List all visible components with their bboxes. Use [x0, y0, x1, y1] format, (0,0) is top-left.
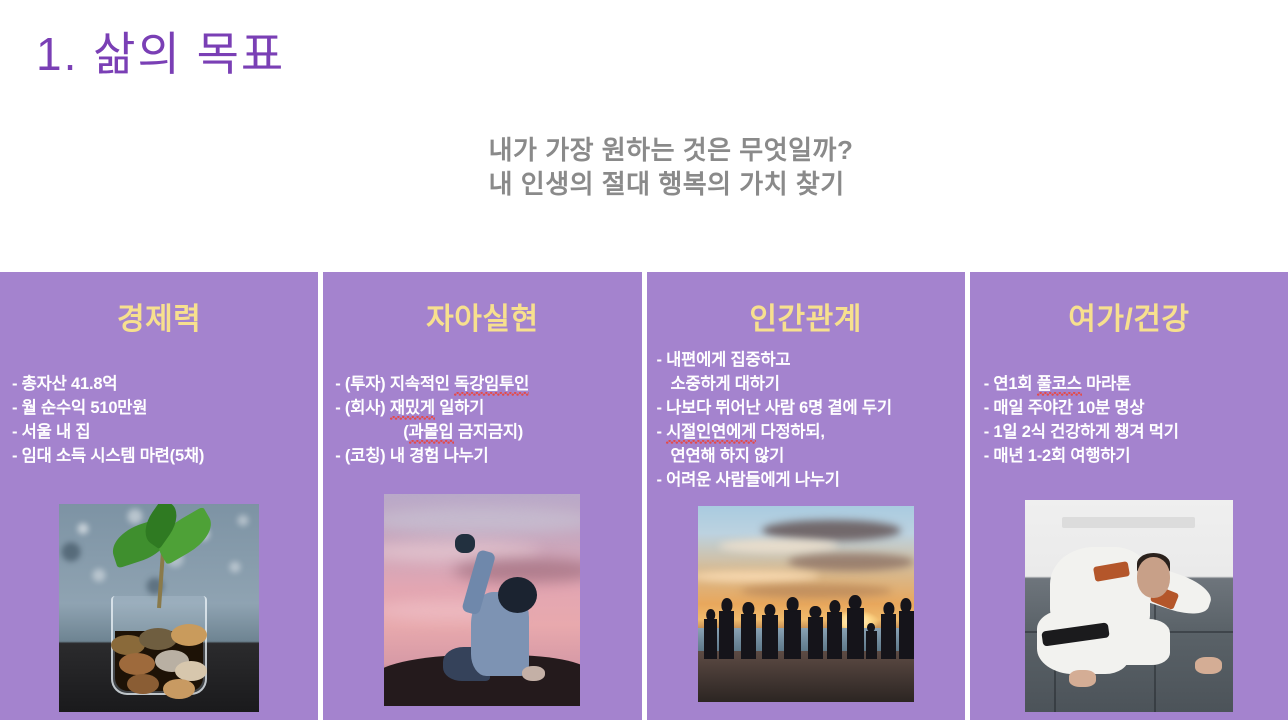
column-photo-mountain-victory	[384, 494, 580, 706]
list-item-text: - (회사)	[335, 399, 390, 417]
list-item: - 연1회 풀코스 마라톤	[984, 372, 1282, 396]
column-relationships[interactable]: 인간관계 - 내편에게 집중하고 소중하게 대하기 - 나보다 뛰어난 사람 6…	[647, 272, 965, 720]
person-silhouette	[881, 614, 896, 659]
list-item: - (투자) 지속적인 독강임투인	[335, 372, 635, 396]
list-item-text: -	[657, 423, 667, 441]
person-head	[849, 595, 862, 610]
list-item: - 월 순수익 510만원	[12, 396, 312, 420]
list-item: 연연해 하지 않기	[657, 444, 959, 468]
list-item: (과몰입 금지금지)	[335, 420, 635, 444]
person-head	[743, 602, 754, 616]
spellcheck-error-text: 재밌게	[390, 399, 435, 420]
person-silhouette	[741, 614, 756, 659]
person-fist	[455, 534, 475, 553]
list-item: - (코칭) 내 경험 나누기	[335, 444, 635, 468]
column-heading: 자아실현	[323, 294, 641, 338]
list-item-text: 마라톤	[1082, 375, 1131, 393]
list-item-text: 금지금지)	[454, 423, 524, 441]
person-head	[829, 600, 840, 614]
list-item: - 나보다 뛰어난 사람 6명 곁에 두기	[657, 396, 959, 420]
list-item: 소중하게 대하기	[657, 372, 959, 396]
person-head	[786, 597, 799, 612]
list-item: - 임대 소득 시스템 마련(5채)	[12, 444, 312, 468]
list-item-text: - (투자) 지속적인	[335, 375, 454, 393]
slide-subtitle: 내가 가장 원하는 것은 무엇일까? 내 인생의 절대 행복의 가치 찾기	[0, 133, 1288, 201]
list-item-text: - 연1회	[984, 375, 1037, 393]
column-photo-coins-plant	[59, 504, 259, 712]
subtitle-inner: 내가 가장 원하는 것은 무엇일까? 내 인생의 절대 행복의 가치 찾기	[489, 133, 854, 201]
column-bullet-list: - (투자) 지속적인 독강임투인 - (회사) 재밌게 일하기 (과몰입 금지…	[335, 372, 635, 468]
list-item: - 서울 내 집	[12, 420, 312, 444]
athlete-hand	[1195, 657, 1222, 674]
person-head	[721, 598, 732, 612]
person-head	[810, 606, 821, 619]
list-item: - 매일 주야간 10분 명상	[984, 396, 1282, 420]
coin-cluster	[59, 529, 259, 712]
column-self-realization[interactable]: 자아실현 - (투자) 지속적인 독강임투인 - (회사) 재밌게 일하기 (과…	[323, 272, 641, 720]
presentation-slide: 1. 삶의 목표 내가 가장 원하는 것은 무엇일까? 내 인생의 절대 행복의…	[0, 0, 1288, 720]
cloud-shape	[698, 571, 819, 583]
person-silhouette	[847, 608, 864, 659]
column-heading: 여가/건강	[970, 294, 1288, 338]
spellcheck-error-text: 과몰입	[409, 423, 454, 444]
coin-icon	[127, 674, 159, 694]
coin-icon	[119, 653, 155, 675]
athlete-hand	[1069, 670, 1096, 687]
person-head	[867, 623, 875, 631]
cloud-shape	[719, 539, 838, 553]
person-silhouette	[704, 619, 717, 659]
list-item: - 총자산 41.8억	[12, 372, 312, 396]
column-photo-grappling	[1025, 500, 1233, 712]
spellcheck-error-text: 독강임투인	[454, 375, 529, 396]
cloud-shape	[384, 507, 580, 535]
column-leisure-health[interactable]: 여가/건강 - 연1회 풀코스 마라톤 - 매일 주야간 10분 명상 - 1일…	[970, 272, 1288, 720]
spellcheck-error-text: 시절인연에게	[666, 423, 756, 444]
child-silhouette	[866, 631, 877, 659]
column-economic-power[interactable]: 경제력 - 총자산 41.8억 - 월 순수익 510만원 - 서울 내 집 -…	[0, 272, 318, 720]
people-silhouette-group	[698, 588, 914, 659]
coin-icon	[163, 679, 195, 699]
page-title: 1. 삶의 목표	[36, 18, 285, 84]
column-bullet-list: - 내편에게 집중하고 소중하게 대하기 - 나보다 뛰어난 사람 6명 곁에 …	[657, 348, 959, 492]
person-head	[900, 598, 911, 612]
column-photo-beach-sunset-group	[698, 506, 914, 702]
list-item: - 1일 2식 건강하게 챙겨 먹기	[984, 420, 1282, 444]
person-supporting-hand	[522, 666, 546, 681]
list-item: - 매년 1-2회 여행하기	[984, 444, 1282, 468]
list-item-text: (	[403, 423, 408, 441]
goal-columns: 경제력 - 총자산 41.8억 - 월 순수익 510만원 - 서울 내 집 -…	[0, 272, 1288, 720]
athlete-a-head	[1137, 557, 1170, 597]
cloud-shape	[762, 520, 900, 542]
person-silhouette	[719, 611, 734, 659]
person-head	[883, 602, 894, 616]
column-bullet-list: - 총자산 41.8억 - 월 순수익 510만원 - 서울 내 집 - 임대 …	[12, 372, 312, 468]
person-silhouette	[808, 617, 823, 659]
list-item: - 내편에게 집중하고	[657, 348, 959, 372]
person-silhouette	[762, 615, 777, 659]
person-head	[706, 609, 716, 621]
coin-icon	[171, 624, 207, 646]
list-item: - 어려운 사람들에게 나누기	[657, 468, 959, 492]
person-silhouette	[784, 610, 801, 659]
column-bullet-list: - 연1회 풀코스 마라톤 - 매일 주야간 10분 명상 - 1일 2식 건강…	[984, 372, 1282, 468]
subtitle-line-1: 내가 가장 원하는 것은 무엇일까?	[489, 133, 854, 167]
person-silhouette	[899, 611, 914, 659]
wall-strip	[1062, 517, 1195, 528]
column-heading: 경제력	[0, 294, 318, 338]
column-heading: 인간관계	[647, 294, 965, 338]
list-item: - 시절인연에게 다정하되,	[657, 420, 959, 444]
list-item-text: 일하기	[435, 399, 484, 417]
list-item: - (회사) 재밌게 일하기	[335, 396, 635, 420]
person-head	[764, 604, 775, 617]
person-head-hood	[498, 577, 537, 613]
cloud-shape	[788, 553, 913, 571]
spellcheck-error-text: 풀코스	[1037, 375, 1082, 396]
list-item-text: 다정하되,	[756, 423, 825, 441]
subtitle-line-2: 내 인생의 절대 행복의 가치 찾기	[489, 167, 854, 201]
coin-icon	[175, 661, 207, 681]
person-silhouette	[827, 612, 842, 659]
